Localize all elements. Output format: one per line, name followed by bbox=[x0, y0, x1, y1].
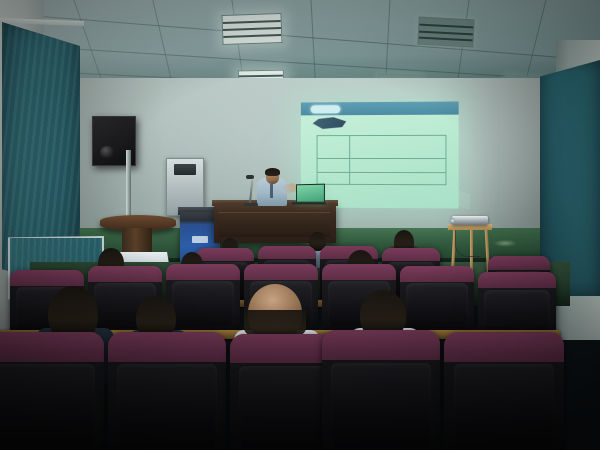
slide-table-row bbox=[318, 136, 446, 159]
projector-device bbox=[452, 216, 488, 225]
slide-table-cell-label bbox=[318, 158, 351, 172]
presenter-tie bbox=[270, 184, 273, 198]
auditorium-seat[interactable] bbox=[322, 330, 440, 450]
lecture-room-photo bbox=[0, 0, 600, 450]
slide-table-cell-body bbox=[350, 158, 445, 172]
podium-column bbox=[122, 228, 152, 256]
microphone-head-icon bbox=[246, 175, 254, 179]
auditorium-seat[interactable] bbox=[400, 266, 474, 332]
slide-tab-label bbox=[311, 105, 341, 113]
ceiling-light-fixture bbox=[221, 13, 282, 45]
ac-brand-label bbox=[176, 188, 194, 194]
presenter-hair bbox=[265, 168, 280, 176]
ac-vent-grille bbox=[174, 164, 196, 175]
slide-table-cell-body bbox=[350, 136, 445, 158]
slide-table-cell-body bbox=[350, 172, 445, 184]
auditorium-seat[interactable] bbox=[108, 332, 226, 450]
auditorium-seat[interactable] bbox=[444, 332, 564, 450]
slide-table-row bbox=[318, 172, 446, 184]
slide-table-row bbox=[318, 158, 446, 173]
slide-table bbox=[317, 135, 447, 185]
laptop-keyboard-base bbox=[292, 202, 326, 205]
microphone-base bbox=[244, 203, 258, 206]
slide-table-cell-label bbox=[318, 172, 351, 184]
auditorium-seat[interactable] bbox=[166, 264, 240, 330]
auditorium-seat[interactable] bbox=[0, 332, 104, 450]
projector-lens-icon bbox=[450, 218, 455, 223]
slide-table-cell-label bbox=[318, 136, 351, 158]
cabinet-label bbox=[192, 236, 208, 243]
projector-cable bbox=[455, 230, 480, 257]
speaker-cone-icon bbox=[100, 146, 114, 158]
speaker-stand-pole bbox=[126, 150, 131, 222]
slide-logo-graphic bbox=[313, 116, 347, 129]
ceiling-light-fixture bbox=[417, 17, 474, 48]
